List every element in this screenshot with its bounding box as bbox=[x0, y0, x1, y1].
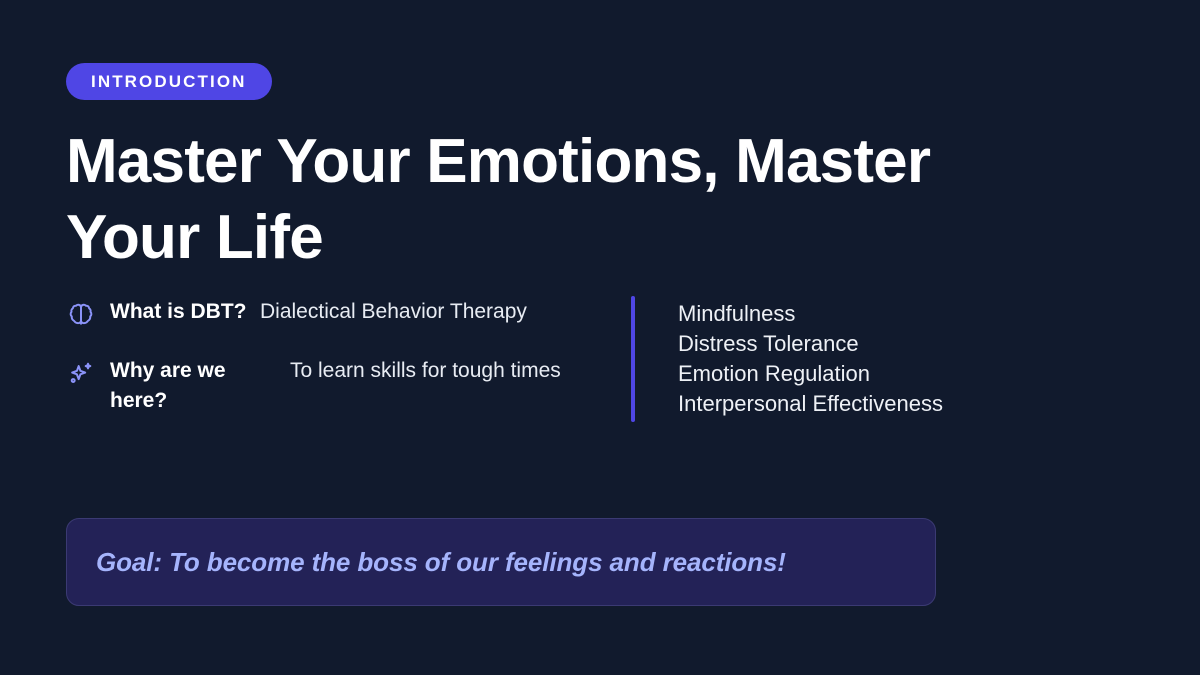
modules-column: Mindfulness Distress Tolerance Emotion R… bbox=[621, 293, 1136, 425]
fact-label: Why are we here? bbox=[110, 356, 260, 416]
fact-row: Why are we here? To learn skills for tou… bbox=[66, 356, 621, 416]
goal-text: Goal: To become the boss of our feelings… bbox=[96, 547, 786, 578]
page-title-line-1: Master Your Emotions, Master bbox=[66, 124, 1046, 200]
list-item: Emotion Regulation bbox=[678, 359, 1136, 389]
fact-value: Dialectical Behavior Therapy bbox=[260, 297, 621, 327]
fact-value: To learn skills for tough times bbox=[260, 356, 621, 386]
page-title: Master Your Emotions, Master Your Life bbox=[66, 124, 1046, 276]
section-badge-label: INTRODUCTION bbox=[91, 72, 247, 92]
goal-callout-card: Goal: To become the boss of our feelings… bbox=[66, 518, 936, 606]
list-item: Mindfulness bbox=[678, 299, 1136, 329]
facts-column: What is DBT? Dialectical Behavior Therap… bbox=[66, 293, 621, 416]
fact-label: What is DBT? bbox=[110, 297, 260, 327]
list-item: Distress Tolerance bbox=[678, 329, 1136, 359]
body-columns: What is DBT? Dialectical Behavior Therap… bbox=[66, 293, 1136, 483]
sparkles-icon bbox=[66, 359, 96, 389]
page-title-line-2: Your Life bbox=[66, 200, 1046, 276]
slide-canvas: INTRODUCTION Master Your Emotions, Maste… bbox=[0, 0, 1200, 675]
module-list: Mindfulness Distress Tolerance Emotion R… bbox=[635, 293, 1136, 425]
list-item: Interpersonal Effectiveness bbox=[678, 389, 1136, 419]
section-badge: INTRODUCTION bbox=[66, 63, 272, 100]
brain-icon bbox=[66, 300, 96, 330]
fact-row: What is DBT? Dialectical Behavior Therap… bbox=[66, 297, 621, 330]
